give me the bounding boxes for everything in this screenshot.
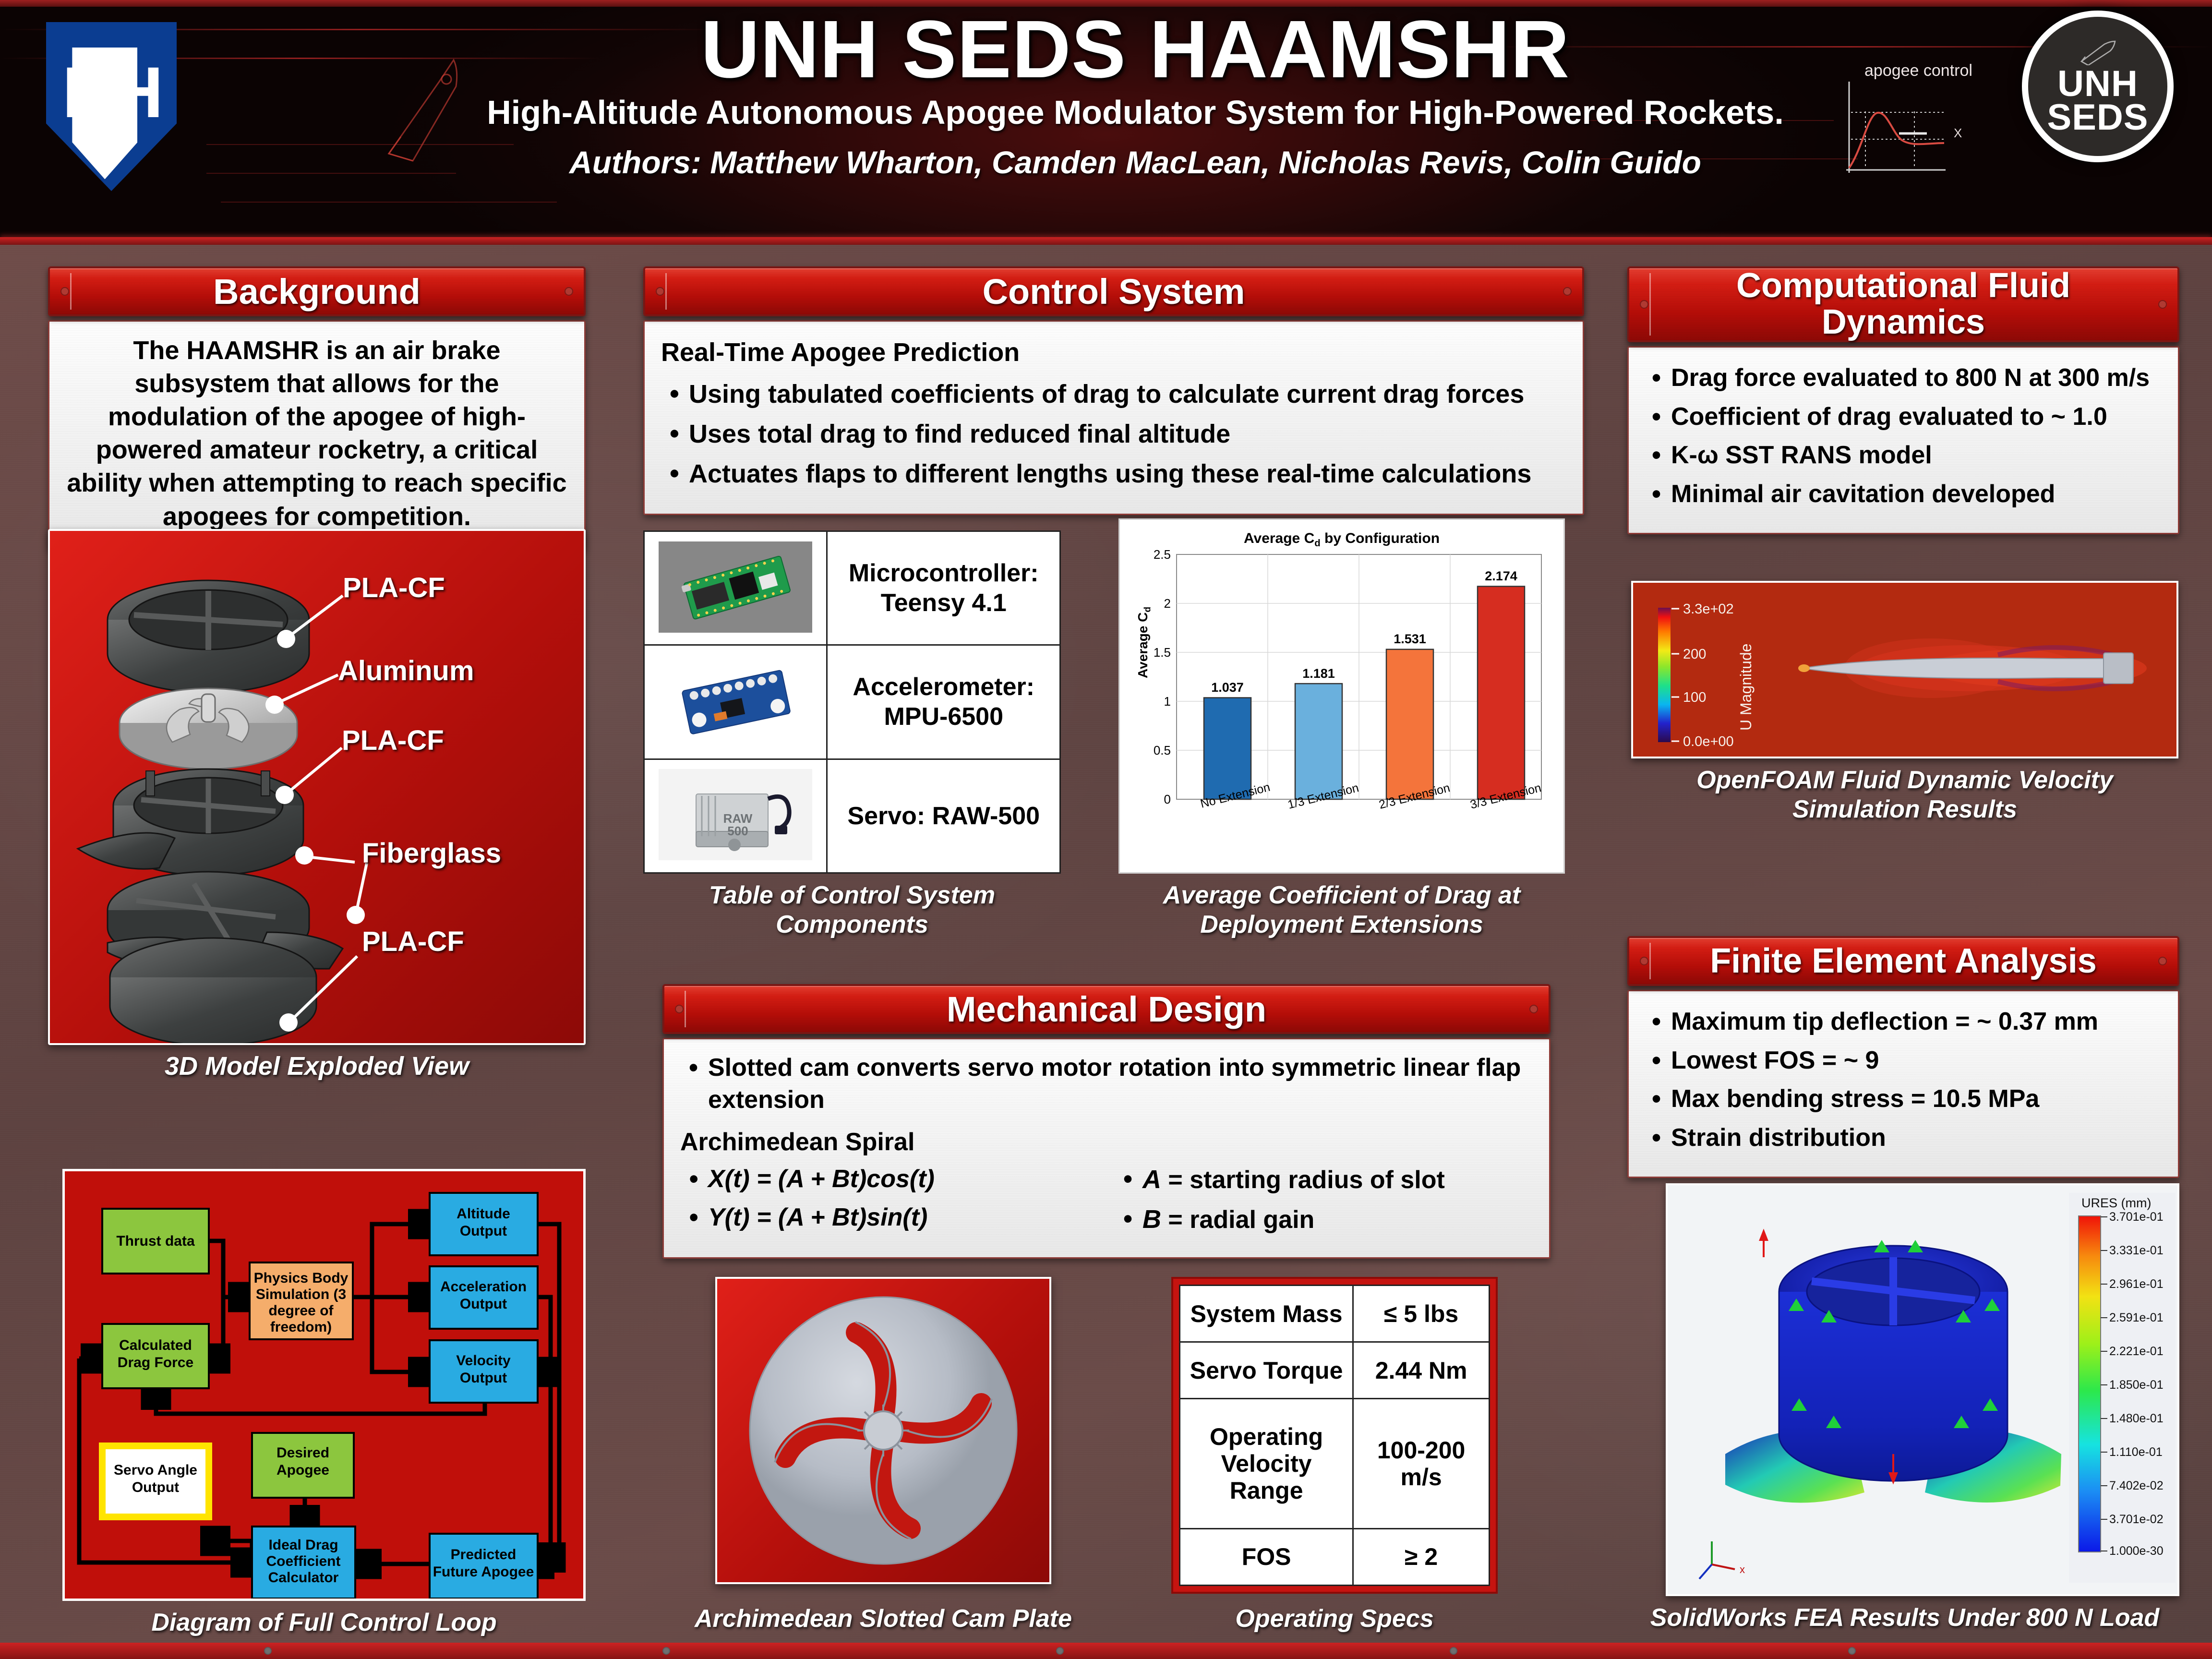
svg-text:0: 0 — [1164, 792, 1171, 806]
colorbar-tick: 0.0e+00 — [1683, 734, 1734, 749]
fea-legend-value: 3.701e-01 — [2109, 1210, 2164, 1224]
background-section-header: Background — [48, 266, 586, 316]
colorbar-tick: 200 — [1683, 647, 1706, 662]
node-label: Thrust data — [116, 1233, 195, 1249]
bullet: Max bending stress = 10.5 MPa — [1671, 1083, 2164, 1115]
openfoam-cfd-image: 3.3e+02 200 100 0.0e+00 U Magnitude — [1631, 581, 2178, 758]
svg-text:Desired: Desired — [276, 1445, 329, 1461]
colorbar-label: U Magnitude — [1737, 644, 1755, 731]
title-block: UNH SEDS HAAMSHR High-Altitude Autonomou… — [446, 9, 1824, 180]
svg-text:Velocity: Velocity — [456, 1353, 511, 1369]
cfd-section: Computational Fluid Dynamics Drag force … — [1627, 266, 2179, 534]
spec-name: Operating Velocity Range — [1180, 1399, 1353, 1529]
fea-caption: SolidWorks FEA Results Under 800 N Load — [1631, 1603, 2178, 1633]
fea-section: Finite Element Analysis Maximum tip defl… — [1627, 936, 2179, 1178]
table-row: Operating Velocity Range 100-200 m/s — [1180, 1399, 1490, 1529]
exploded-view-caption: 3D Model Exploded View — [48, 1051, 586, 1082]
spec-value: 2.44 Nm — [1353, 1342, 1490, 1399]
cd-bar-chart: Average Cd by Configuration Average Cd 0 — [1118, 518, 1565, 874]
seds-logo-line1: UNH — [2057, 67, 2138, 101]
svg-text:Predicted: Predicted — [451, 1547, 517, 1563]
svg-text:Calculator: Calculator — [268, 1570, 339, 1586]
bar-value: 1.531 — [1394, 632, 1426, 646]
fea-bullets: Maximum tip deflection = ~ 0.37 mm Lowes… — [1643, 1006, 2164, 1154]
spec-value: 100-200 m/s — [1353, 1399, 1490, 1529]
table-row: Accelerometer: MPU-6500 — [644, 645, 1060, 759]
svg-text:Output: Output — [460, 1223, 507, 1239]
table-row: System Mass ≤ 5 lbs — [1180, 1286, 1490, 1342]
svg-text:1: 1 — [1164, 694, 1171, 709]
svg-text:Ideal Drag: Ideal Drag — [268, 1537, 338, 1553]
cfd-body: Drag force evaluated to 800 N at 300 m/s… — [1627, 346, 2179, 534]
teensy-board-photo — [644, 531, 827, 645]
bullet: Drag force evaluated to 800 N at 300 m/s — [1671, 362, 2164, 394]
fea-legend-value: 3.701e-02 — [2109, 1513, 2164, 1526]
table-row: Microcontroller: Teensy 4.1 — [644, 531, 1060, 645]
bullet: Actuates flaps to different lengths usin… — [689, 457, 1566, 491]
fea-legend-title: URES (mm) — [2081, 1196, 2151, 1210]
svg-text:Acceleration: Acceleration — [440, 1279, 527, 1295]
control-system-bullets: Using tabulated coefficients of drag to … — [661, 378, 1566, 491]
servo-photo: RAW 500 — [644, 759, 827, 873]
poster-header: NH UNH SEDS HAAMSHR High-Altitude Autono… — [0, 0, 2212, 245]
spec-name: System Mass — [1180, 1286, 1353, 1342]
bullet: Uses total drag to find reduced final al… — [689, 418, 1566, 451]
fea-title: Finite Element Analysis — [1710, 941, 2097, 981]
mechanical-design-section: Mechanical Design Slotted cam converts s… — [662, 984, 1551, 1259]
unh-logo-text: NH — [62, 51, 161, 134]
mechanical-design-body: Slotted cam converts servo motor rotatio… — [662, 1038, 1551, 1259]
fea-legend-value: 2.961e-01 — [2109, 1277, 2164, 1291]
rocket-icon — [2075, 38, 2121, 65]
fea-legend-value: 1.000e-30 — [2109, 1544, 2164, 1558]
bullet: Slotted cam converts servo motor rotatio… — [708, 1052, 1533, 1116]
cam-plate-figure — [715, 1277, 1051, 1584]
definition: B = radial gain — [1142, 1203, 1533, 1236]
fea-legend-value: 1.480e-01 — [2109, 1412, 2164, 1425]
components-table-caption: Table of Control System Components — [643, 881, 1061, 940]
table-row: FOS ≥ 2 — [1180, 1528, 1490, 1585]
spec-name: Servo Torque — [1180, 1342, 1353, 1399]
seds-logo-line2: SEDS — [2047, 101, 2149, 134]
svg-text:Output: Output — [460, 1296, 507, 1312]
cfd-bullets: Drag force evaluated to 800 N at 300 m/s… — [1643, 362, 2164, 510]
spec-name: FOS — [1180, 1528, 1353, 1585]
unh-shield-logo: NH — [46, 22, 177, 191]
exploded-label-3: Fiberglass — [362, 837, 501, 869]
component-label: Servo: RAW-500 — [827, 759, 1060, 873]
components-table: Microcontroller: Teensy 4.1 — [643, 530, 1061, 874]
spec-value: ≤ 5 lbs — [1353, 1286, 1490, 1342]
bullet: Maximum tip deflection = ~ 0.37 mm — [1671, 1006, 2164, 1038]
bullet: Coefficient of drag evaluated to ~ 1.0 — [1671, 401, 2164, 433]
bullet: Lowest FOS = ~ 9 — [1671, 1045, 2164, 1077]
svg-text:Simulation (3: Simulation (3 — [256, 1286, 346, 1302]
exploded-label-1: Aluminum — [338, 655, 474, 687]
mechanical-design-header: Mechanical Design — [662, 984, 1551, 1034]
bar-value: 2.174 — [1485, 569, 1517, 583]
control-loop-figure: Thrust data Physics BodySimulation (3 de… — [62, 1169, 586, 1601]
bullet: K-ω SST RANS model — [1671, 439, 2164, 471]
cfd-caption: OpenFOAM Fluid Dynamic Velocity Simulati… — [1631, 766, 2178, 825]
svg-text:Coefficient: Coefficient — [266, 1553, 340, 1569]
svg-text:Servo Angle: Servo Angle — [114, 1462, 197, 1478]
cfd-title: Computational Fluid Dynamics — [1663, 268, 2144, 340]
apogee-control-plot: apogee control X — [1842, 63, 2001, 188]
page-subtitle: High-Altitude Autonomous Apogee Modulato… — [446, 93, 1824, 132]
control-loop-caption: Diagram of Full Control Loop — [62, 1608, 586, 1637]
operating-specs-table: System Mass ≤ 5 lbs Servo Torque 2.44 Nm… — [1171, 1277, 1498, 1594]
exploded-view-figure: PLA-CF Aluminum PLA-CF Fiberglass PLA-CF — [48, 529, 586, 1045]
component-label: Microcontroller: Teensy 4.1 — [827, 531, 1060, 645]
fea-body: Maximum tip deflection = ~ 0.37 mm Lowes… — [1627, 990, 2179, 1178]
control-system-section: Control System Real-Time Apogee Predicti… — [643, 266, 1584, 515]
poster-board: Background The HAAMSHR is an air brake s… — [0, 245, 2212, 1659]
fea-legend-value: 2.591e-01 — [2109, 1311, 2164, 1324]
svg-text:0.5: 0.5 — [1154, 743, 1171, 757]
authors-line: Authors: Matthew Wharton, Camden MacLean… — [446, 144, 1824, 180]
solidworks-fea-image: x URES (mm) 3.701e-01 3.331e-01 2.961e-0… — [1666, 1183, 2179, 1596]
spiral-equations: X(t) = (A + Bt)cos(t) Y(t) = (A + Bt)sin… — [680, 1163, 1100, 1243]
header-bottom-bar — [0, 237, 2212, 245]
fea-legend-value: 3.331e-01 — [2109, 1244, 2164, 1257]
bullet: Strain distribution — [1671, 1122, 2164, 1154]
colorbar-tick: 100 — [1683, 690, 1706, 705]
control-system-title: Control System — [983, 271, 1245, 312]
exploded-label-2: PLA-CF — [342, 724, 444, 757]
spiral-definitions: A = starting radius of slot B = radial g… — [1115, 1163, 1533, 1243]
svg-text:Future Apogee: Future Apogee — [433, 1564, 534, 1580]
background-body: The HAAMSHR is an air brake subsystem th… — [48, 320, 586, 549]
exploded-label-4: PLA-CF — [362, 926, 464, 958]
svg-text:Output: Output — [460, 1370, 507, 1386]
definition: A = starting radius of slot — [1142, 1163, 1533, 1196]
control-system-body: Real-Time Apogee Prediction Using tabula… — [643, 320, 1584, 515]
bar-value: 1.037 — [1211, 680, 1244, 695]
unh-seds-logo: UNH SEDS — [2022, 11, 2174, 162]
svg-text:2.5: 2.5 — [1154, 547, 1171, 562]
svg-text:500: 500 — [728, 824, 748, 838]
decorative-line — [221, 202, 557, 203]
fea-legend-value: 1.110e-01 — [2109, 1445, 2163, 1459]
cfd-header: Computational Fluid Dynamics — [1627, 266, 2179, 342]
board-bottom-bar — [0, 1643, 2212, 1659]
fea-legend-value: 2.221e-01 — [2109, 1345, 2164, 1358]
spiral-heading: Archimedean Spiral — [680, 1126, 1533, 1158]
svg-text:Calculated: Calculated — [119, 1337, 192, 1353]
exploded-label-0: PLA-CF — [343, 572, 445, 604]
equation: Y(t) = (A + Bt)sin(t) — [708, 1202, 1100, 1234]
colorbar-tick: 3.3e+02 — [1683, 601, 1734, 617]
control-system-header: Control System — [643, 266, 1584, 316]
svg-text:Output: Output — [132, 1479, 179, 1495]
mechanical-design-bullets: Slotted cam converts servo motor rotatio… — [680, 1052, 1533, 1116]
fea-legend-value: 1.850e-01 — [2109, 1378, 2164, 1392]
component-label: Accelerometer: MPU-6500 — [827, 645, 1060, 759]
fea-legend-value: 7.402e-02 — [2109, 1479, 2164, 1492]
control-system-heading: Real-Time Apogee Prediction — [661, 336, 1566, 369]
table-row: RAW 500 Servo: RAW-500 — [644, 759, 1060, 873]
bar-value: 1.181 — [1302, 666, 1335, 681]
mechanical-design-title: Mechanical Design — [947, 989, 1266, 1030]
bullet: Minimal air cavitation developed — [1671, 478, 2164, 510]
svg-text:1.5: 1.5 — [1154, 645, 1171, 660]
svg-text:X: X — [1954, 126, 1962, 140]
equation: X(t) = (A + Bt)cos(t) — [708, 1163, 1100, 1195]
bullet: Using tabulated coefficients of drag to … — [689, 378, 1566, 411]
background-title: Background — [213, 271, 421, 312]
operating-specs-caption: Operating Specs — [1162, 1604, 1507, 1634]
svg-text:freedom): freedom) — [270, 1319, 332, 1335]
page-title: UNH SEDS HAAMSHR — [446, 9, 1824, 90]
svg-text:2: 2 — [1164, 596, 1171, 611]
table-row: Servo Torque 2.44 Nm — [1180, 1342, 1490, 1399]
svg-text:Drag Force: Drag Force — [118, 1355, 193, 1370]
spec-value: ≥ 2 — [1353, 1528, 1490, 1585]
svg-text:Apogee: Apogee — [276, 1462, 329, 1478]
fea-header: Finite Element Analysis — [1627, 936, 2179, 986]
background-section: Background The HAAMSHR is an air brake s… — [48, 266, 586, 549]
chart-caption: Average Coefficient of Drag at Deploymen… — [1118, 881, 1565, 940]
svg-text:degree of: degree of — [268, 1303, 334, 1319]
svg-text:Physics Body: Physics Body — [254, 1270, 349, 1286]
svg-text:Altitude: Altitude — [457, 1206, 510, 1222]
cam-plate-caption: Archimedean Slotted Cam Plate — [672, 1604, 1094, 1634]
svg-text:x: x — [1740, 1563, 1745, 1575]
mpu-accelerometer-photo — [644, 645, 827, 759]
